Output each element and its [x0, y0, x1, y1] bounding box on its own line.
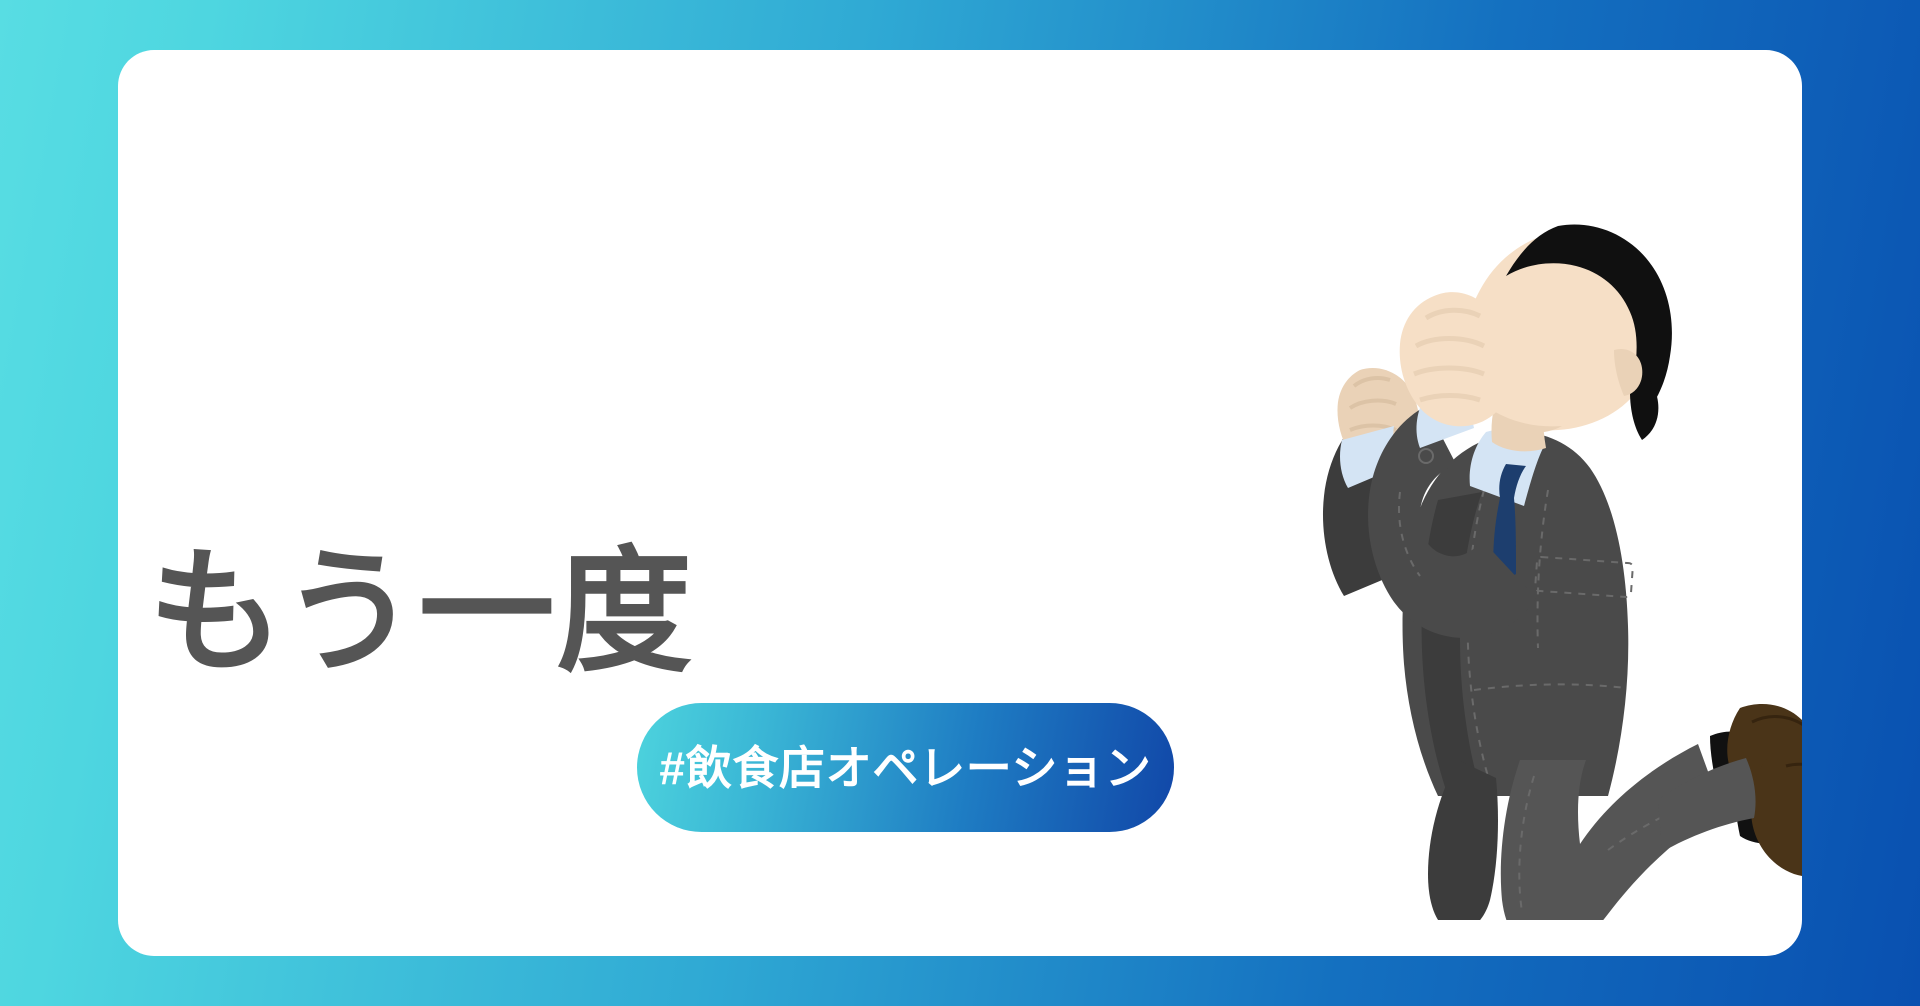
content-card: もう一度 チャンス下さい #飲食店オペレーション [118, 50, 1802, 956]
kneeling-businessman-illustration [1138, 160, 1802, 920]
businessman-icon [1138, 160, 1802, 920]
hashtag-tag-label: #飲食店オペレーション [659, 745, 1151, 791]
page-title: もう一度 チャンス下さい [148, 130, 1091, 956]
poster-canvas: もう一度 チャンス下さい #飲食店オペレーション [0, 0, 1920, 1006]
headline-line-1: もう一度 [148, 516, 1091, 709]
hashtag-tag-button[interactable]: #飲食店オペレーション [637, 703, 1174, 832]
